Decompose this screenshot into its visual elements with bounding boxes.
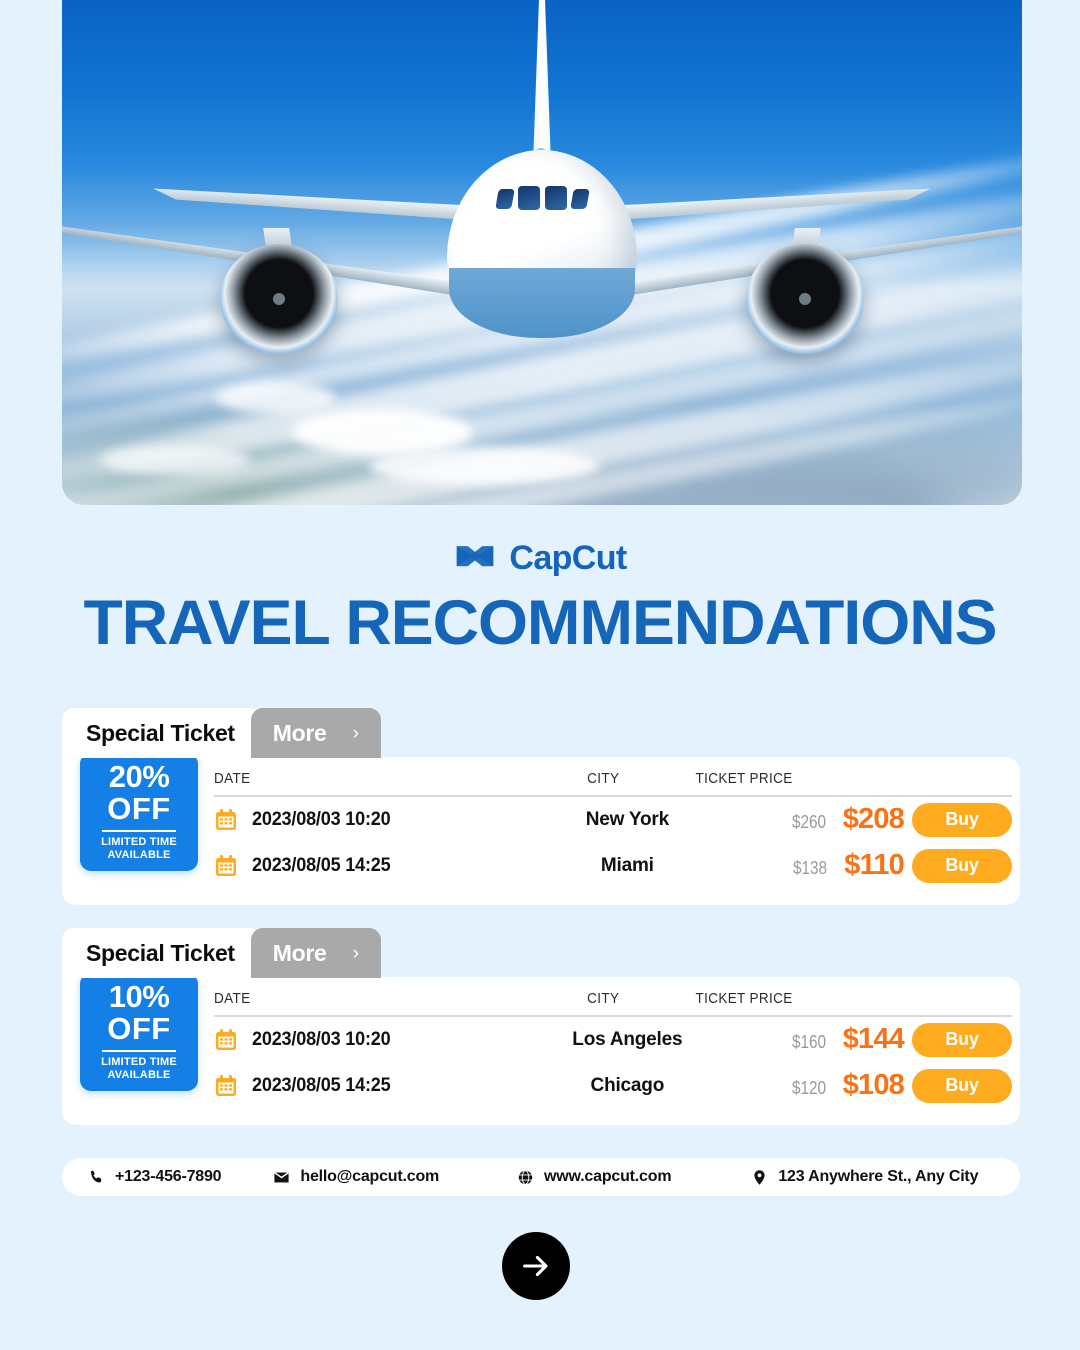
capcut-bowtie-icon	[453, 543, 497, 573]
cell-original-price: $138	[793, 858, 827, 879]
table-header-row: DATE CITY TICKET PRICE	[214, 983, 932, 1013]
cell-date: 2023/08/03 10:20	[252, 809, 390, 831]
envelope-icon	[273, 1169, 290, 1186]
ticket-table: DATE CITY TICKET PRICE	[214, 983, 1012, 1109]
buy-button[interactable]: Buy	[912, 849, 1012, 883]
contact-text: +123-456-7890	[115, 1168, 221, 1186]
tab-label: More	[273, 720, 327, 747]
ticket-card: Special Ticket More › 10% OFF LIMITED TI…	[62, 928, 1020, 1125]
ticket-card: Special Ticket More › 20% OFF LIMITED TI…	[62, 708, 1020, 905]
contact-text: hello@capcut.com	[300, 1168, 439, 1186]
cell-city: New York	[586, 809, 669, 830]
cell-original-price: $160	[792, 1032, 826, 1053]
buy-button[interactable]: Buy	[912, 1023, 1012, 1057]
badge-subtitle-line2: AVAILABLE	[107, 849, 170, 862]
badge-percent: 10%	[109, 981, 170, 1013]
cell-original-price: $260	[792, 812, 826, 833]
discount-badge: 10% OFF LIMITED TIME AVAILABLE	[80, 973, 198, 1091]
cell-discount-price: $208	[843, 803, 904, 836]
phone-icon	[88, 1169, 105, 1186]
chevron-right-icon: ›	[353, 944, 359, 963]
tab-label: More	[273, 940, 327, 967]
next-button[interactable]	[502, 1232, 570, 1300]
table-header-row: DATE CITY TICKET PRICE	[214, 763, 932, 793]
hero-image	[62, 0, 1022, 505]
badge-subtitle-line2: AVAILABLE	[107, 1069, 170, 1082]
cell-discount-price: $108	[843, 1069, 904, 1102]
arrow-right-icon	[519, 1249, 553, 1283]
logo-text: CapCut	[509, 539, 626, 578]
contact-phone[interactable]: +123-456-7890	[62, 1168, 221, 1186]
column-header-date: DATE	[214, 770, 511, 787]
cell-city: Miami	[601, 855, 654, 876]
badge-off-label: OFF	[107, 793, 171, 825]
cell-date: 2023/08/03 10:20	[252, 1029, 390, 1051]
contact-address[interactable]: 123 Anywhere St., Any City	[671, 1168, 978, 1186]
cell-discount-price: $144	[843, 1023, 904, 1056]
cell-city: Chicago	[591, 1075, 665, 1096]
airplane-icon	[162, 0, 922, 330]
cell-discount-price: $110	[844, 849, 904, 882]
cell-original-price: $120	[792, 1078, 826, 1099]
tab-special-ticket[interactable]: Special Ticket	[62, 708, 261, 758]
badge-divider	[102, 1050, 176, 1052]
badge-divider	[102, 830, 176, 832]
tab-special-ticket[interactable]: Special Ticket	[62, 928, 261, 978]
column-header-price: TICKET PRICE	[696, 990, 872, 1007]
cell-date: 2023/08/05 14:25	[252, 855, 390, 877]
buy-button[interactable]: Buy	[912, 803, 1012, 837]
column-header-city: CITY	[511, 990, 696, 1007]
buy-button[interactable]: Buy	[912, 1069, 1012, 1103]
badge-percent: 20%	[109, 761, 170, 793]
tab-more[interactable]: More ›	[251, 708, 381, 758]
calendar-icon	[214, 1074, 238, 1098]
column-header-date: DATE	[214, 990, 511, 1007]
contact-text: 123 Anywhere St., Any City	[778, 1168, 978, 1186]
tab-label: Special Ticket	[86, 940, 235, 967]
calendar-icon	[214, 1028, 238, 1052]
calendar-icon	[214, 808, 238, 832]
table-row: 2023/08/03 10:20 Los Angeles $160 $144 B…	[214, 1017, 1012, 1063]
table-row: 2023/08/05 14:25 Chicago $120 $108 Buy	[214, 1063, 1012, 1109]
globe-icon	[517, 1169, 534, 1186]
contact-website[interactable]: www.capcut.com	[439, 1168, 671, 1186]
tab-label: Special Ticket	[86, 720, 235, 747]
contact-bar: +123-456-7890 hello@capcut.com www.capcu…	[62, 1158, 1020, 1196]
table-row: 2023/08/03 10:20 New York $260 $208 Buy	[214, 797, 1012, 843]
discount-badge: 20% OFF LIMITED TIME AVAILABLE	[80, 753, 198, 871]
contact-email[interactable]: hello@capcut.com	[221, 1168, 439, 1186]
calendar-icon	[214, 854, 238, 878]
cell-city: Los Angeles	[572, 1029, 682, 1050]
ticket-table: DATE CITY TICKET PRICE	[214, 763, 1012, 889]
card-tabs: Special Ticket More ›	[62, 928, 1020, 978]
badge-subtitle-line1: LIMITED TIME	[101, 1056, 177, 1069]
page-title: TRAVEL RECOMMENDATIONS	[0, 592, 1080, 655]
capcut-logo: CapCut	[0, 535, 1080, 581]
table-row: 2023/08/05 14:25 Miami $138 $110 Buy	[214, 843, 1012, 889]
cell-date: 2023/08/05 14:25	[252, 1075, 390, 1097]
location-pin-icon	[751, 1169, 768, 1186]
badge-subtitle-line1: LIMITED TIME	[101, 836, 177, 849]
card-tabs: Special Ticket More ›	[62, 708, 1020, 758]
column-header-price: TICKET PRICE	[696, 770, 872, 787]
chevron-right-icon: ›	[353, 724, 359, 743]
badge-off-label: OFF	[107, 1013, 171, 1045]
tab-more[interactable]: More ›	[251, 928, 381, 978]
column-header-city: CITY	[511, 770, 696, 787]
contact-text: www.capcut.com	[544, 1168, 671, 1186]
